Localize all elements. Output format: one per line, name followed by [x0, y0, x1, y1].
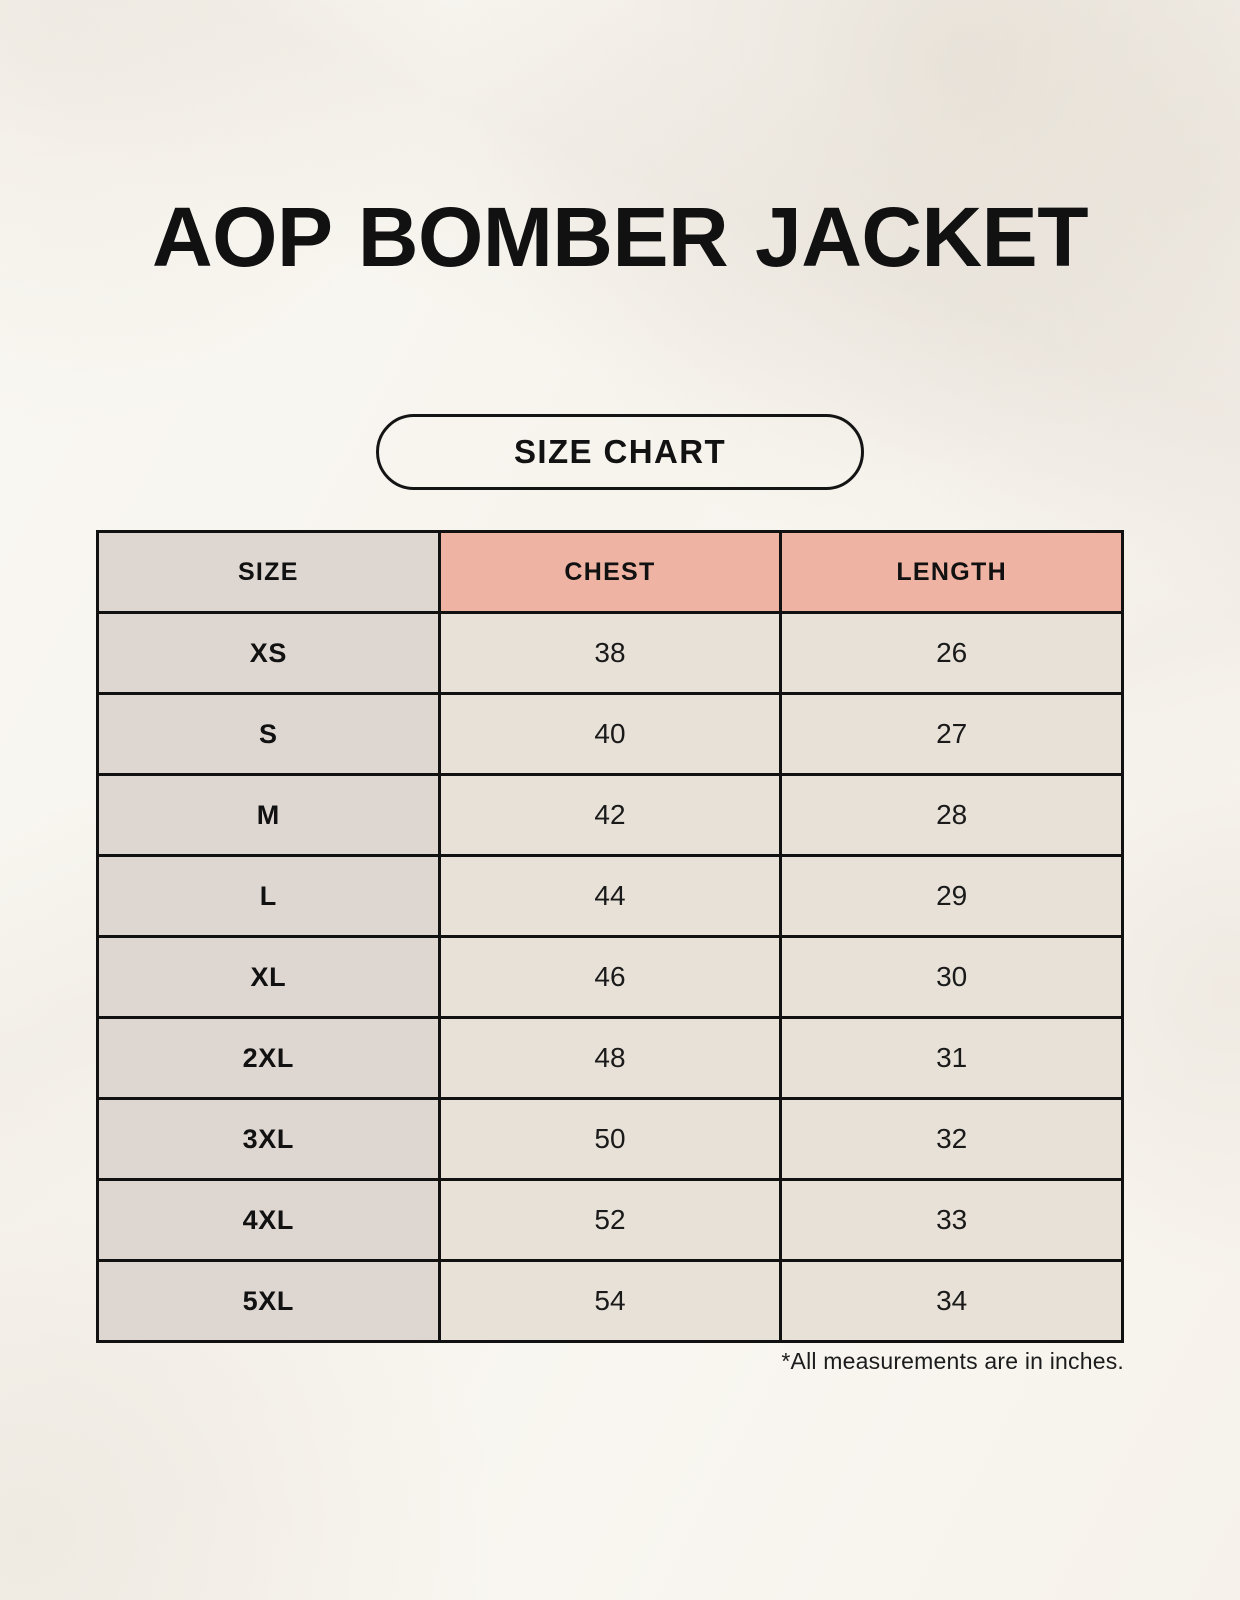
- cell-size: 2XL: [98, 1018, 440, 1099]
- measurement-units-note: *All measurements are in inches.: [96, 1348, 1124, 1375]
- size-table-container: SIZE CHEST LENGTH XS 38 26 S 40 27 M: [96, 530, 1124, 1343]
- cell-chest: 44: [439, 856, 781, 937]
- cell-size: 3XL: [98, 1099, 440, 1180]
- table-row: 4XL 52 33: [98, 1180, 1123, 1261]
- size-chart-badge-container: SIZE CHART: [0, 414, 1240, 490]
- table-row: XL 46 30: [98, 937, 1123, 1018]
- cell-length: 29: [781, 856, 1123, 937]
- table-row: S 40 27: [98, 694, 1123, 775]
- table-row: XS 38 26: [98, 613, 1123, 694]
- size-table: SIZE CHEST LENGTH XS 38 26 S 40 27 M: [96, 530, 1124, 1343]
- cell-size: L: [98, 856, 440, 937]
- table-row: L 44 29: [98, 856, 1123, 937]
- size-chart-page: AOP BOMBER JACKET SIZE CHART SIZE CHEST …: [0, 0, 1240, 1600]
- cell-length: 34: [781, 1261, 1123, 1342]
- title-block: AOP BOMBER JACKET: [0, 196, 1240, 279]
- table-row: 3XL 50 32: [98, 1099, 1123, 1180]
- table-row: 5XL 54 34: [98, 1261, 1123, 1342]
- table-row: 2XL 48 31: [98, 1018, 1123, 1099]
- cell-length: 31: [781, 1018, 1123, 1099]
- cell-size: 4XL: [98, 1180, 440, 1261]
- size-table-body: XS 38 26 S 40 27 M 42 28 L 44 29: [98, 613, 1123, 1342]
- size-chart-badge: SIZE CHART: [376, 414, 864, 490]
- cell-chest: 42: [439, 775, 781, 856]
- cell-size: 5XL: [98, 1261, 440, 1342]
- size-table-head: SIZE CHEST LENGTH: [98, 532, 1123, 613]
- cell-chest: 54: [439, 1261, 781, 1342]
- cell-chest: 46: [439, 937, 781, 1018]
- column-header-size: SIZE: [98, 532, 440, 613]
- page-title: AOP BOMBER JACKET: [0, 196, 1240, 279]
- cell-size: XL: [98, 937, 440, 1018]
- cell-size: XS: [98, 613, 440, 694]
- table-header-row: SIZE CHEST LENGTH: [98, 532, 1123, 613]
- cell-length: 32: [781, 1099, 1123, 1180]
- table-row: M 42 28: [98, 775, 1123, 856]
- cell-length: 27: [781, 694, 1123, 775]
- size-chart-badge-label: SIZE CHART: [514, 433, 726, 471]
- cell-length: 33: [781, 1180, 1123, 1261]
- cell-length: 26: [781, 613, 1123, 694]
- column-header-length: LENGTH: [781, 532, 1123, 613]
- cell-chest: 52: [439, 1180, 781, 1261]
- cell-chest: 48: [439, 1018, 781, 1099]
- cell-length: 30: [781, 937, 1123, 1018]
- column-header-chest: CHEST: [439, 532, 781, 613]
- cell-size: M: [98, 775, 440, 856]
- cell-length: 28: [781, 775, 1123, 856]
- cell-chest: 50: [439, 1099, 781, 1180]
- cell-chest: 40: [439, 694, 781, 775]
- cell-chest: 38: [439, 613, 781, 694]
- cell-size: S: [98, 694, 440, 775]
